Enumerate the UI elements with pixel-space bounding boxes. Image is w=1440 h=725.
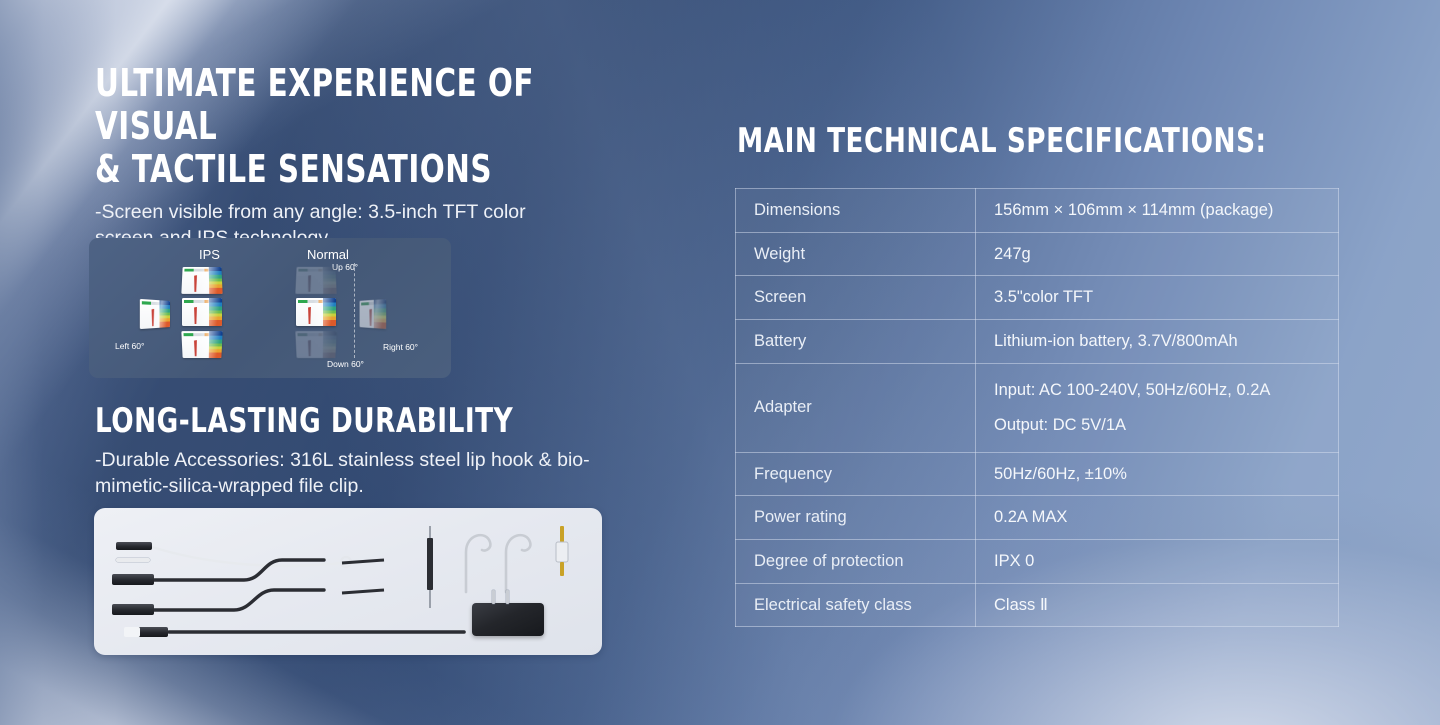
normal-device-center: 00 xyxy=(296,298,336,326)
spec-value: Class Ⅱ xyxy=(976,583,1339,627)
desc-line-1: -Screen visible from any angle: 3.5-inch… xyxy=(95,201,526,223)
device-screen-sheen xyxy=(360,299,387,329)
device-screen-sheen xyxy=(181,331,222,358)
spec-value-output: Output: DC 5V/1A xyxy=(994,415,1324,436)
accessories-figure xyxy=(94,508,602,655)
lip-hook-1 xyxy=(466,535,490,592)
device-screen-sheen xyxy=(295,331,336,358)
durability-line-1: -Durable Accessories: 316L stainless ste… xyxy=(95,448,657,474)
spec-key: Frequency xyxy=(736,452,976,496)
ips-label-left: Left 60° xyxy=(115,341,144,351)
usb-c-plug xyxy=(138,627,168,637)
spec-value: Input: AC 100-240V, 50Hz/60Hz, 0.2A Outp… xyxy=(976,363,1339,452)
spec-key: Power rating xyxy=(736,496,976,540)
spec-key: Dimensions xyxy=(736,189,976,233)
device-screen-sheen xyxy=(296,298,336,326)
ips-label-ips: IPS xyxy=(199,247,220,262)
spec-value: 0.2A MAX xyxy=(976,496,1339,540)
connector-body xyxy=(556,542,568,562)
spec-value: 3.5"color TFT xyxy=(976,276,1339,320)
ips-comparison-figure: IPS Normal Up 60° Down 60° Left 60° Righ… xyxy=(89,238,451,378)
lip-hook-2 xyxy=(506,535,530,592)
specifications-table-body: Dimensions 156mm × 106mm × 114mm (packag… xyxy=(736,189,1339,627)
connector-plug-2 xyxy=(112,574,154,585)
ips-device-center: 00 xyxy=(182,298,222,326)
device-screen-sheen xyxy=(295,267,336,294)
slide-content: ULTIMATE EXPERIENCE OF VISUAL & TACTILE … xyxy=(0,0,1440,725)
table-row: Adapter Input: AC 100-240V, 50Hz/60Hz, 0… xyxy=(736,363,1339,452)
clip-jaw-2 xyxy=(342,590,384,593)
power-adapter xyxy=(472,603,544,636)
spec-key: Degree of protection xyxy=(736,540,976,584)
adapter-prong-right xyxy=(506,590,509,604)
spec-value: Lithium-ion battery, 3.7V/800mAh xyxy=(976,319,1339,363)
spec-value: 156mm × 106mm × 114mm (package) xyxy=(976,189,1339,233)
table-row: Weight 247g xyxy=(736,232,1339,276)
spec-key: Electrical safety class xyxy=(736,583,976,627)
page-title: ULTIMATE EXPERIENCE OF VISUAL & TACTILE … xyxy=(95,62,620,191)
ips-device-up: 00 xyxy=(181,267,222,294)
clip-jaw-1 xyxy=(342,560,384,563)
durability-line-2: mimetic-silica-wrapped file clip. xyxy=(95,474,657,500)
device-screen-sheen xyxy=(181,267,222,294)
white-lead-wire xyxy=(149,546,342,566)
table-row: Power rating 0.2A MAX xyxy=(736,496,1339,540)
table-row: Dimensions 156mm × 106mm × 114mm (packag… xyxy=(736,189,1339,233)
file-clip-cable-2 xyxy=(154,590,324,610)
device-screen-sheen xyxy=(182,298,222,326)
connector-plug-3 xyxy=(112,604,154,615)
spec-key: Weight xyxy=(736,232,976,276)
gold-pin-bottom xyxy=(560,562,564,576)
adapter-prong-left xyxy=(492,590,495,604)
table-row: Frequency 50Hz/60Hz, ±10% xyxy=(736,452,1339,496)
table-row: Battery Lithium-ion battery, 3.7V/800mAh xyxy=(736,319,1339,363)
table-row: Electrical safety class Class Ⅱ xyxy=(736,583,1339,627)
device-screen-sheen xyxy=(140,299,170,329)
spec-key: Adapter xyxy=(736,363,976,452)
durability-title: LONG-LASTING DURABILITY xyxy=(95,402,513,440)
table-row: Degree of protection IPX 0 xyxy=(736,540,1339,584)
usb-c-tip xyxy=(124,627,140,637)
ips-divider-dotted xyxy=(354,263,355,358)
normal-device-down xyxy=(295,331,336,358)
ips-label-right: Right 60° xyxy=(383,342,418,352)
specifications-table: Dimensions 156mm × 106mm × 114mm (packag… xyxy=(735,188,1339,627)
gold-pin-top xyxy=(560,526,564,542)
spec-key: Battery xyxy=(736,319,976,363)
spec-value: 50Hz/60Hz, ±10% xyxy=(976,452,1339,496)
ips-device-left: 00 xyxy=(140,299,170,329)
spec-key: Screen xyxy=(736,276,976,320)
connector-plug-1 xyxy=(116,542,152,550)
normal-device-right xyxy=(360,299,387,329)
endo-file-handle xyxy=(427,538,433,590)
normal-device-up xyxy=(295,267,336,294)
white-connector-plug xyxy=(116,558,150,562)
ips-device-down: 00 xyxy=(181,331,222,358)
spec-value: 247g xyxy=(976,232,1339,276)
specifications-title: MAIN TECHNICAL SPECIFICATIONS: xyxy=(737,122,1267,160)
table-row: Screen 3.5"color TFT xyxy=(736,276,1339,320)
ips-label-normal: Normal xyxy=(307,247,349,262)
spec-value-input: Input: AC 100-240V, 50Hz/60Hz, 0.2A xyxy=(994,380,1324,401)
spec-value: IPX 0 xyxy=(976,540,1339,584)
ips-label-down: Down 60° xyxy=(327,359,364,369)
durability-description: -Durable Accessories: 316L stainless ste… xyxy=(95,448,657,499)
